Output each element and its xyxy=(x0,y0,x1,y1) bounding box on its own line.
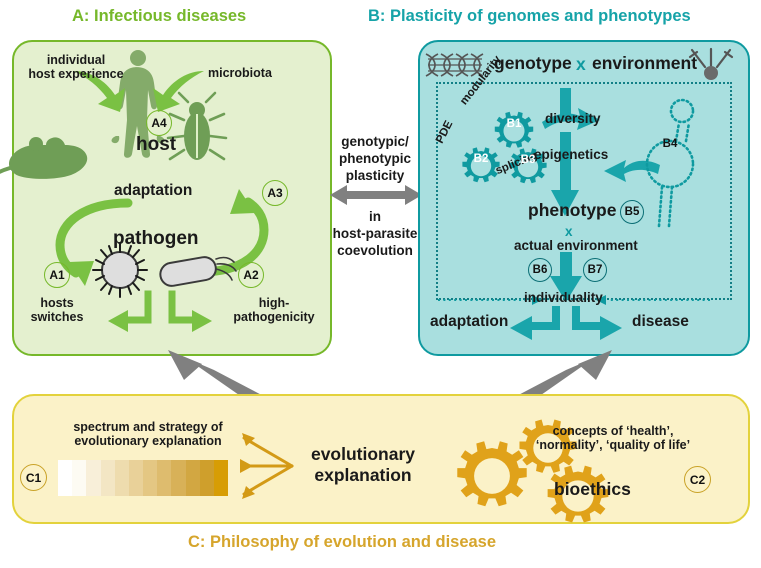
label-individuality: individuality xyxy=(524,290,603,305)
spectrum-step-10 xyxy=(200,460,214,496)
label-disease: disease xyxy=(632,313,689,330)
label-individual-host-experience: individual host experience xyxy=(22,53,130,81)
label-microbiota: microbiota xyxy=(208,66,272,80)
panel-c-gears xyxy=(430,398,650,526)
label-high-pathogenicity: high- pathogenicity xyxy=(224,296,324,324)
arrowhead-disease-icon xyxy=(600,316,622,340)
marker-a2[interactable]: A2 xyxy=(238,262,264,288)
spectrum-step-0 xyxy=(58,460,72,496)
spectrum-step-3 xyxy=(101,460,115,496)
branch-arrowhead-right-icon xyxy=(192,310,212,332)
spectrum-gradient-bar xyxy=(58,460,228,496)
label-spectrum-caption: spectrum and strategy of evolutionary ex… xyxy=(58,420,238,448)
connector-bottom-text: in host-parasite coevolution xyxy=(326,209,424,260)
marker-b7[interactable]: B7 xyxy=(583,258,607,282)
gear-large-left-icon xyxy=(457,441,526,506)
marker-b1[interactable]: B1 xyxy=(502,112,526,136)
spectrum-step-2 xyxy=(86,460,100,496)
connector-double-arrow-icon xyxy=(330,182,422,208)
panel-b-title: B: Plasticity of genomes and phenotypes xyxy=(368,7,691,26)
label-hosts-switches: hosts switches xyxy=(20,296,94,324)
spectrum-step-5 xyxy=(129,460,143,496)
label-diversity: diversity xyxy=(545,111,601,126)
marker-b4[interactable]: B4 xyxy=(658,132,682,156)
spectrum-step-8 xyxy=(171,460,185,496)
spectrum-step-4 xyxy=(115,460,129,496)
spectrum-step-7 xyxy=(157,460,171,496)
marker-b3[interactable]: B3 xyxy=(516,148,540,172)
branch-arrowhead-left-icon xyxy=(108,310,128,332)
spectrum-step-6 xyxy=(143,460,157,496)
marker-a4[interactable]: A4 xyxy=(146,110,172,136)
panel-a-title: A: Infectious diseases xyxy=(72,7,246,26)
marker-a3[interactable]: A3 xyxy=(262,180,288,206)
spectrum-step-11 xyxy=(214,460,228,496)
spectrum-step-9 xyxy=(186,460,200,496)
marker-b2[interactable]: B2 xyxy=(469,147,493,171)
marker-b6[interactable]: B6 xyxy=(528,258,552,282)
marker-c1[interactable]: C1 xyxy=(20,464,47,491)
label-pathogen: pathogen xyxy=(113,228,199,249)
connector-top-text: genotypic/ phenotypic plasticity xyxy=(332,134,418,185)
label-host: host xyxy=(136,134,176,155)
label-concepts: concepts of ‘health’, ‘normality’, ‘qual… xyxy=(520,424,706,452)
panel-c-title: C: Philosophy of evolution and disease xyxy=(188,533,496,552)
label-actual-environment: actual environment xyxy=(514,238,638,253)
marker-c2[interactable]: C2 xyxy=(684,466,711,493)
bacterium-icon xyxy=(159,255,236,287)
pathogen-branch-arrows-icon xyxy=(124,294,196,320)
label-phenotype-times: x xyxy=(565,224,573,239)
label-adaptation-b: adaptation xyxy=(430,313,508,330)
label-adaptation: adaptation xyxy=(114,182,192,199)
virus-icon xyxy=(93,243,147,297)
label-epigenetics: epigenetics xyxy=(534,147,608,162)
figure-canvas: A: Infectious diseases B: Plasticity of … xyxy=(0,0,761,568)
arrowhead-adaptation-icon xyxy=(510,316,532,340)
marker-b5[interactable]: B5 xyxy=(620,200,644,224)
mouse-silhouette-icon xyxy=(0,137,87,180)
adaptation-disease-split-arrows-icon xyxy=(528,310,604,326)
marker-a1[interactable]: A1 xyxy=(44,262,70,288)
label-phenotype: phenotype xyxy=(528,201,616,221)
label-bioethics: bioethics xyxy=(554,480,631,500)
label-evolutionary-explanation: evolutionary explanation xyxy=(288,444,438,486)
spectrum-step-1 xyxy=(72,460,86,496)
